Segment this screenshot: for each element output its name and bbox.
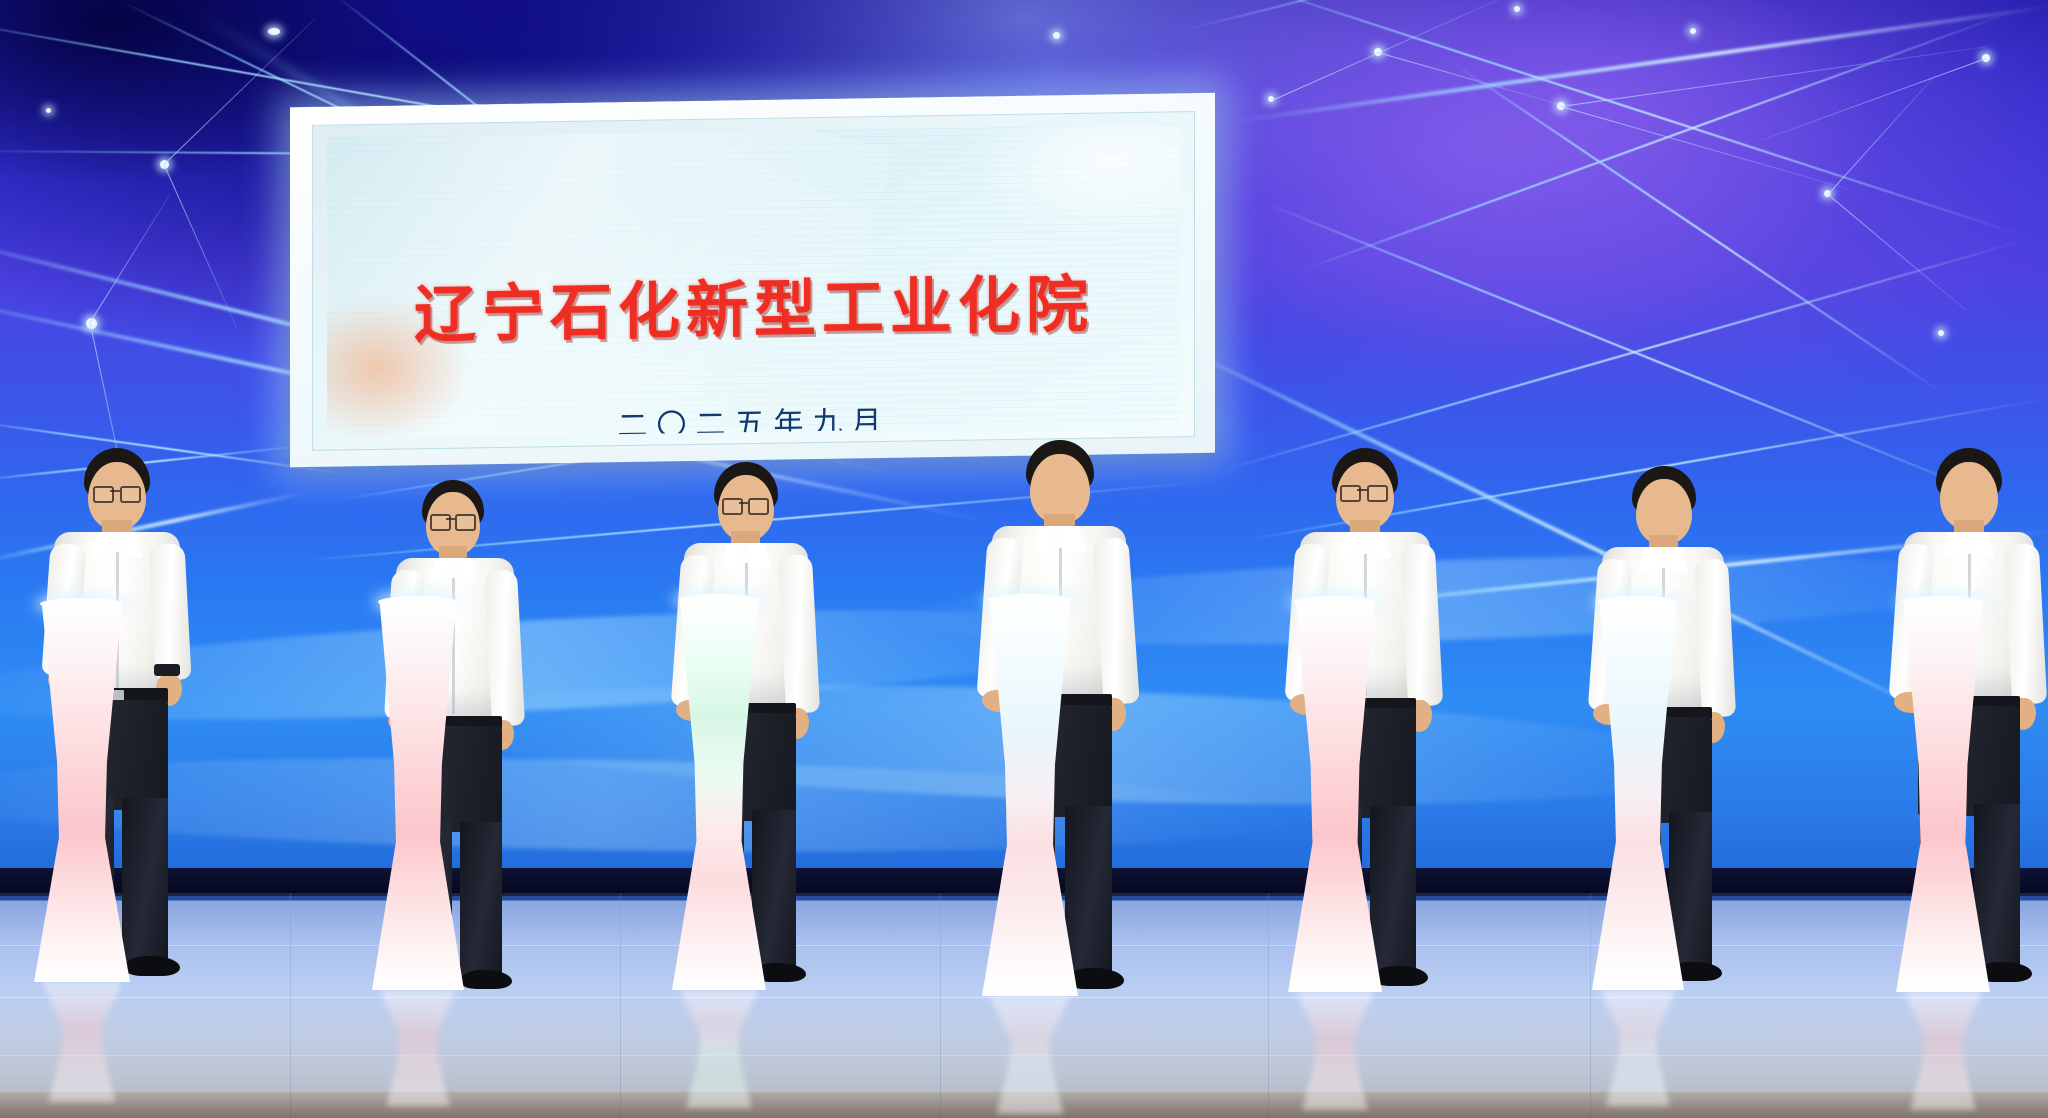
glasses-icon [1367,485,1388,502]
glasses-icon [748,498,769,515]
ceremony-title: 辽宁石化新型工业化院 [327,252,1181,355]
led-panel-inner-frame: 辽宁石化新型工业化院 二〇二五年九月 [312,111,1195,451]
glasses-icon [120,486,141,503]
podium-3-reflection [680,990,758,1108]
podium-1 [34,602,130,982]
glasses-icon [430,514,451,531]
podium-2 [372,600,464,990]
podium-4 [982,598,1078,996]
podium-2-reflection [380,990,456,1106]
right-arm [1694,558,1736,718]
podium-5-reflection [1296,992,1374,1110]
glasses-icon [455,514,476,531]
shoe-right [460,970,512,989]
podium-column [372,600,464,990]
glasses-icon [93,486,114,503]
podium-6-reflection [1600,990,1676,1106]
glasses-icon [1340,485,1361,502]
ceremony-photo: 辽宁石化新型工业化院 二〇二五年九月 [0,0,2048,1118]
podium-7-reflection [1904,992,1982,1110]
led-display-panel: 辽宁石化新型工业化院 二〇二五年九月 [290,93,1215,468]
right-arm [148,543,191,681]
led-panel-surface: 辽宁石化新型工业化院 二〇二五年九月 [327,124,1181,438]
right-arm [1400,543,1443,707]
podium-7 [1896,600,1990,992]
podium-column [1592,600,1684,990]
right-arm [778,554,820,714]
podium-column [1288,600,1382,992]
podium-column [672,598,766,990]
podium-5 [1288,600,1382,992]
podium-6 [1592,600,1684,990]
podium-1-reflection [42,982,122,1102]
podium-column [982,598,1078,996]
right-arm [2004,543,2047,705]
right-arm [484,569,525,727]
glasses-icon [722,498,743,515]
leg-right [460,822,502,982]
podium-4-reflection [990,996,1070,1114]
podium-column [1896,600,1990,992]
wristwatch [154,664,180,676]
ceremony-date: 二〇二五年九月 [327,392,1181,438]
podium-3 [672,598,766,990]
shoe-right [124,956,180,976]
podium-column [34,602,130,982]
